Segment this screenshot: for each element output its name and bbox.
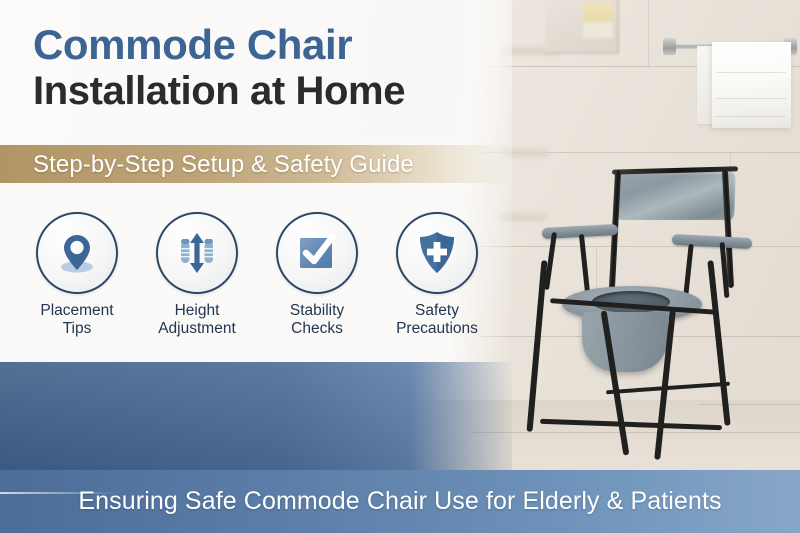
chair-cross-brace bbox=[540, 419, 722, 430]
feature-item-height-adjustment[interactable]: Height Adjustment bbox=[142, 212, 252, 338]
title-line-1: Commode Chair bbox=[33, 22, 483, 67]
feature-label: Stability Checks bbox=[290, 302, 344, 338]
feature-icon-circle bbox=[276, 212, 358, 294]
page-title: Commode Chair Installation at Home bbox=[33, 22, 483, 113]
footer-banner: Ensuring Safe Commode Chair Use for Elde… bbox=[0, 470, 800, 533]
feature-label-line-2: Checks bbox=[291, 320, 343, 337]
feature-label-line-1: Stability bbox=[290, 302, 344, 319]
feature-label: Height Adjustment bbox=[158, 302, 236, 338]
chair-armrest-right bbox=[672, 234, 752, 249]
feature-item-safety-precautions[interactable]: Safety Precautions bbox=[382, 212, 492, 338]
subtitle-banner-text: Step-by-Step Setup & Safety Guide bbox=[33, 151, 414, 179]
feature-label-line-2: Tips bbox=[63, 320, 92, 337]
feature-label-line-1: Height bbox=[175, 302, 220, 319]
feature-label-line-2: Precautions bbox=[396, 320, 478, 337]
shield-cross-icon bbox=[416, 230, 458, 276]
footer-text: Ensuring Safe Commode Chair Use for Elde… bbox=[78, 487, 721, 516]
feature-label-line-1: Placement bbox=[40, 302, 113, 319]
tile-grout-line bbox=[648, 0, 649, 66]
feature-icon-circle bbox=[156, 212, 238, 294]
feature-icon-circle bbox=[36, 212, 118, 294]
feature-item-placement-tips[interactable]: Placement Tips bbox=[22, 212, 132, 338]
location-pin-icon bbox=[56, 231, 98, 275]
chair-bucket bbox=[582, 312, 668, 372]
feature-label-line-2: Adjustment bbox=[158, 320, 236, 337]
chair-leg bbox=[527, 260, 548, 432]
feature-label-line-1: Safety bbox=[415, 302, 459, 319]
towel-crease bbox=[716, 98, 786, 99]
infographic-poster: Commode Chair Installation at Home Step-… bbox=[0, 0, 800, 533]
chair-frame-tube bbox=[579, 234, 590, 294]
niche-item bbox=[583, 2, 613, 38]
chair-backrest bbox=[616, 172, 736, 220]
blue-accent-panel bbox=[0, 362, 512, 470]
feature-icon-circle bbox=[396, 212, 478, 294]
height-arrow-icon bbox=[174, 231, 220, 275]
feature-label: Safety Precautions bbox=[396, 302, 478, 338]
feature-icon-row: Placement Tips bbox=[22, 212, 492, 338]
title-line-2: Installation at Home bbox=[33, 69, 483, 113]
towel-bar-mount bbox=[663, 38, 676, 55]
towel-crease bbox=[716, 116, 786, 117]
commode-chair bbox=[520, 160, 800, 472]
towel-crease bbox=[716, 72, 786, 73]
chair-frame-tube bbox=[683, 244, 693, 296]
checkbox-check-icon bbox=[295, 232, 339, 274]
towel-fold bbox=[697, 46, 713, 124]
feature-item-stability-checks[interactable]: Stability Checks bbox=[262, 212, 372, 338]
feature-label: Placement Tips bbox=[40, 302, 113, 338]
